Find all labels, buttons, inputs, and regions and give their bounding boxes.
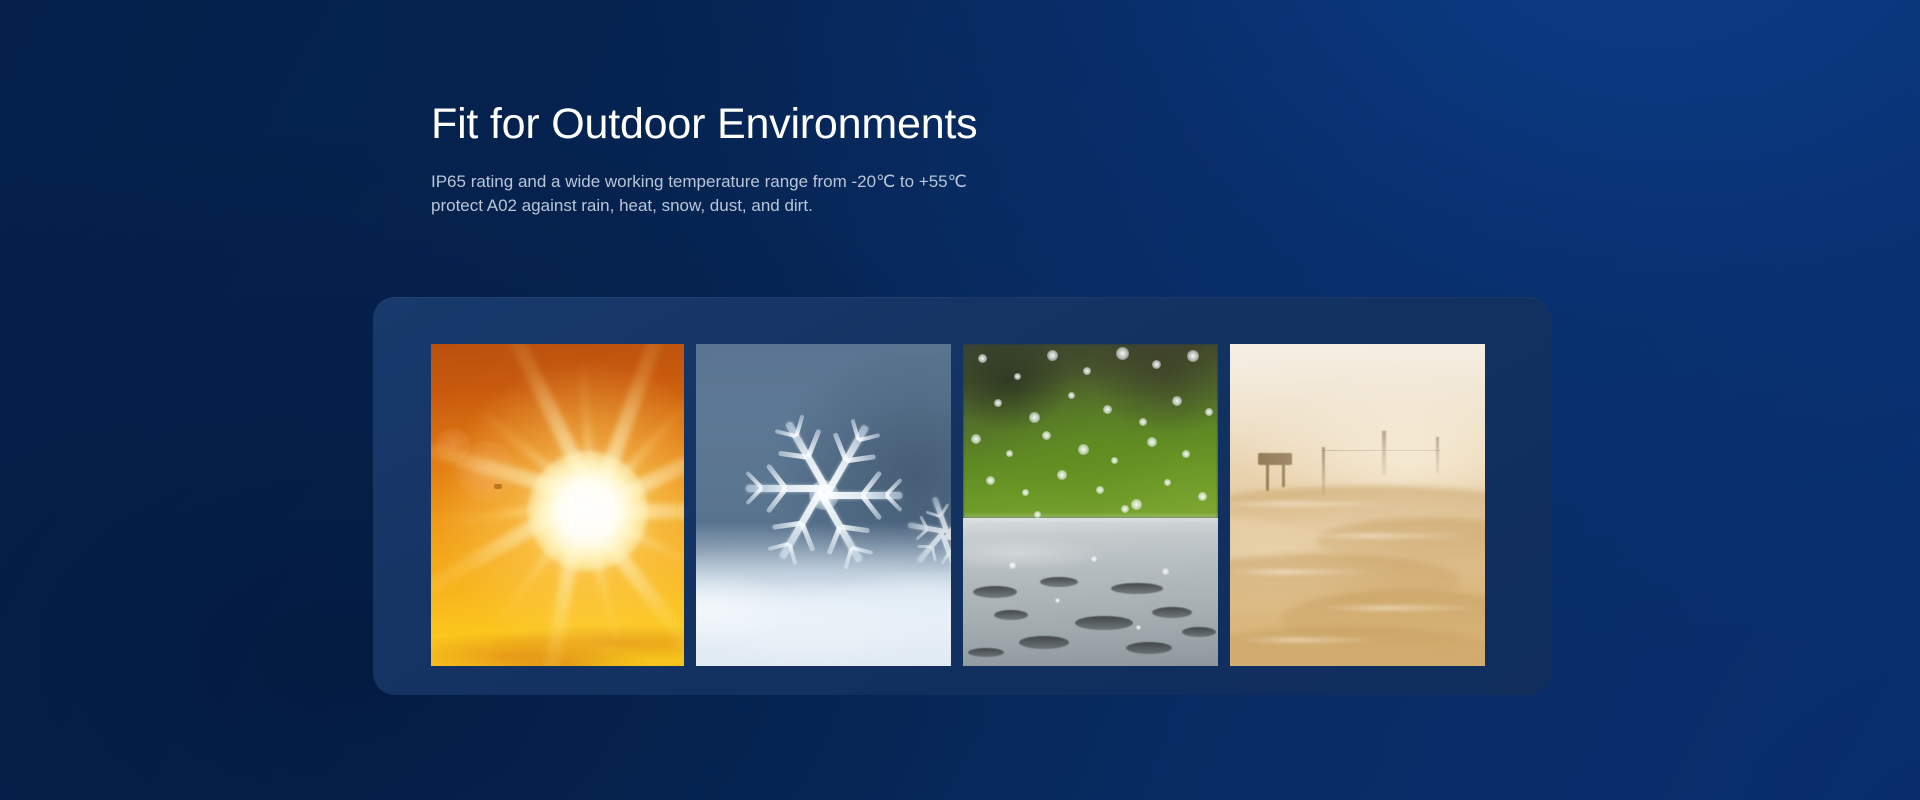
snowflake-center-glow (809, 480, 839, 510)
section-description: IP65 rating and a wide working temperatu… (431, 170, 1051, 218)
environment-image-snow (696, 344, 951, 666)
pavement-horizon-glare (963, 516, 1218, 521)
environment-gallery (431, 344, 1485, 666)
environment-image-rain (963, 344, 1218, 666)
sun-icon (528, 451, 648, 571)
snow-bank (696, 522, 951, 666)
section-description-line-2: protect A02 against rain, heat, snow, du… (431, 194, 1051, 218)
sun-dust-speck (494, 484, 502, 489)
section-description-line-1: IP65 rating and a wide working temperatu… (431, 170, 1051, 194)
environment-image-dust (1230, 344, 1485, 666)
environment-gallery-card (373, 297, 1551, 695)
page-title: Fit for Outdoor Environments (431, 100, 1131, 148)
pavement-puddles (963, 518, 1218, 666)
wet-pavement (963, 518, 1218, 666)
environment-image-heat (431, 344, 684, 666)
copy-block: Fit for Outdoor Environments IP65 rating… (431, 100, 1131, 218)
outdoor-environments-section: Fit for Outdoor Environments IP65 rating… (0, 0, 1920, 800)
sand-dunes (1230, 466, 1485, 666)
